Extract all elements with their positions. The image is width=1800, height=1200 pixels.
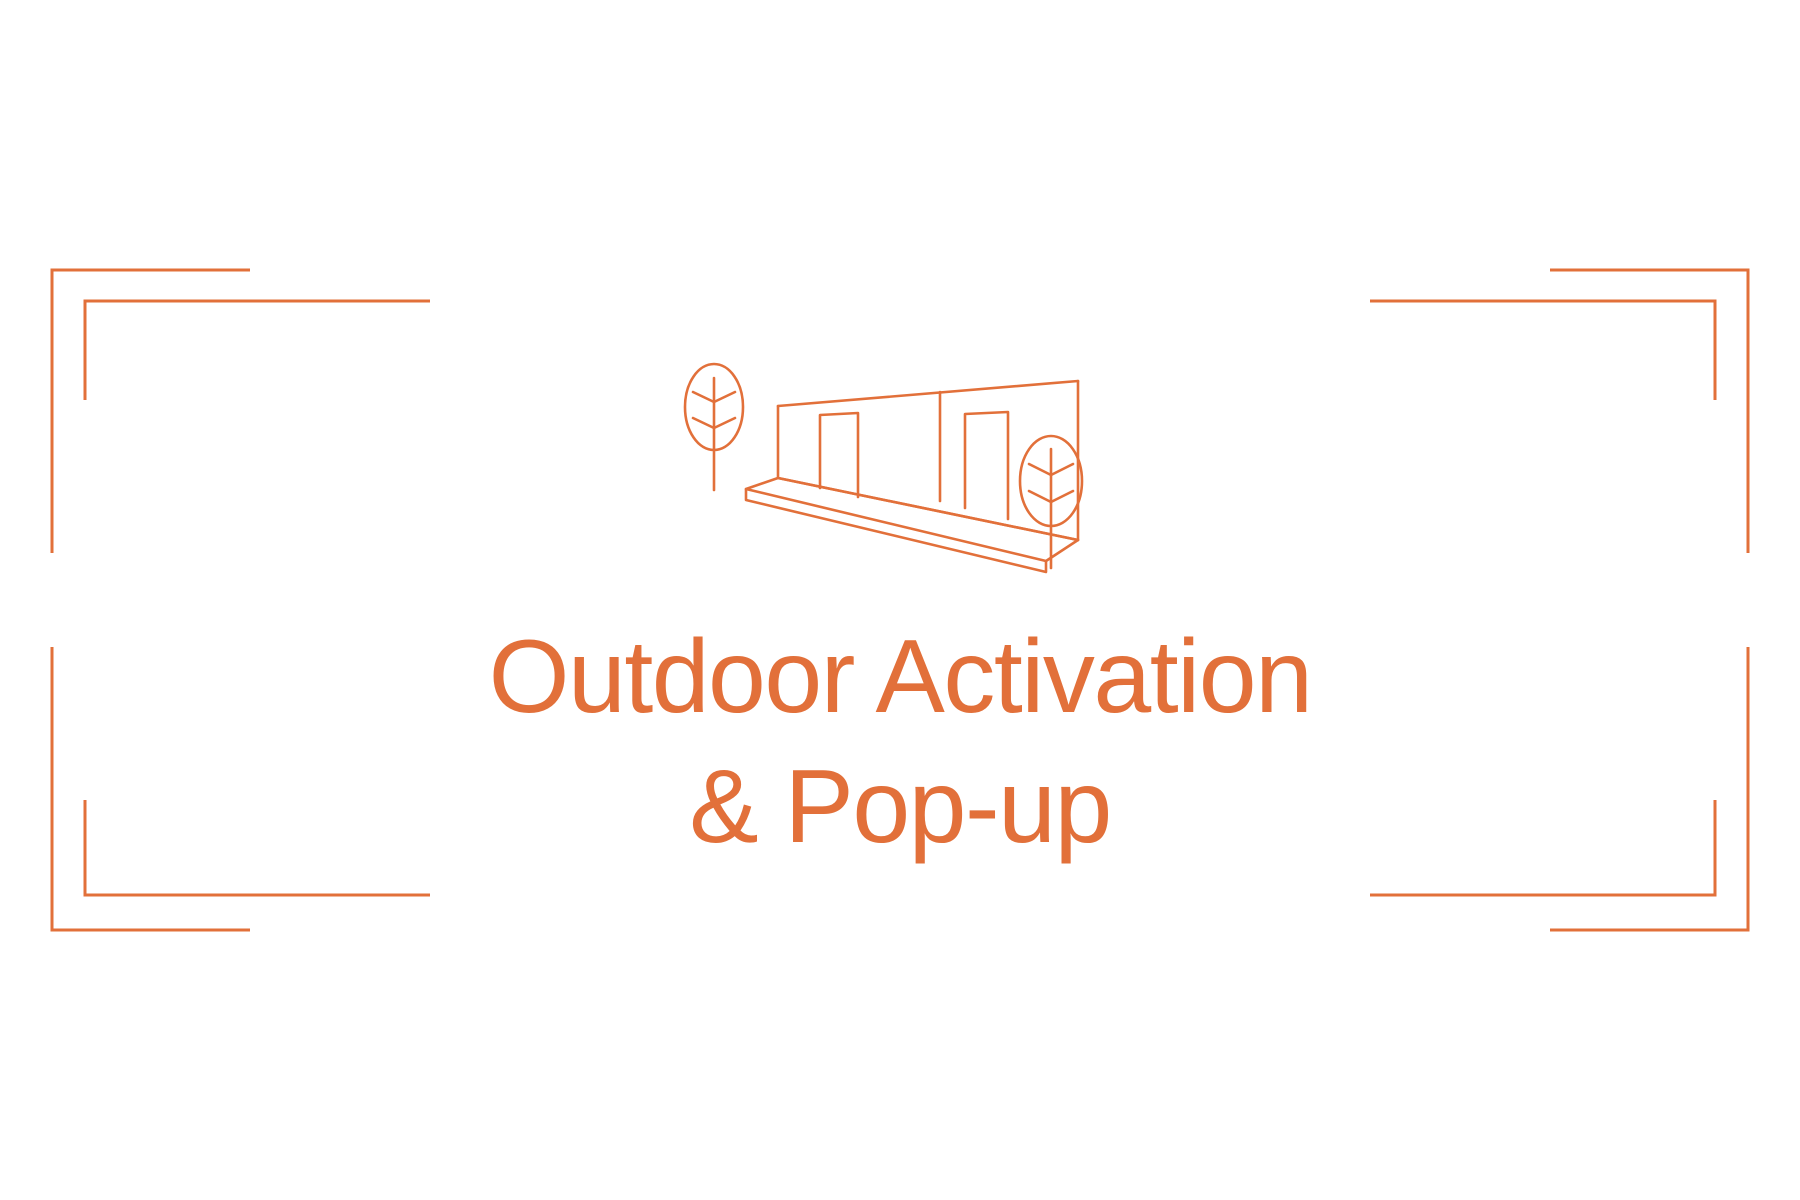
- tree-left-icon: [685, 364, 743, 490]
- wall-top-edge: [778, 381, 1078, 406]
- outdoor-pavilion-illustration: [668, 318, 1138, 586]
- door-opening-left: [820, 413, 858, 497]
- title-line-2: & Pop-up: [0, 742, 1800, 872]
- title-line-1: Outdoor Activation: [0, 612, 1800, 742]
- door-opening-right: [965, 412, 1008, 519]
- tree-right-icon: [1020, 436, 1082, 568]
- ground-platform: [746, 478, 1078, 572]
- page-title: Outdoor Activation & Pop-up: [0, 612, 1800, 872]
- slide-content: Outdoor Activation & Pop-up: [0, 0, 1800, 1200]
- slide-canvas: Outdoor Activation & Pop-up: [0, 0, 1800, 1200]
